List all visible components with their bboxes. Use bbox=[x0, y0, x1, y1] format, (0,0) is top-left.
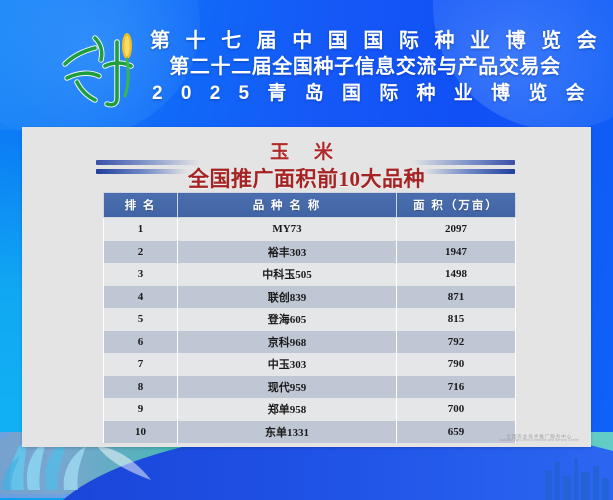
event-title-line-3: 2 0 2 5 青 岛 国 际 种 业 博 览 会 bbox=[145, 81, 585, 107]
cell-variety-name: 郑单958 bbox=[178, 398, 397, 421]
cell-rank: 9 bbox=[104, 398, 178, 421]
event-header: 第 十 七 届 中 国 国 际 种 业 博 览 会 第二十二届全国种子信息交流与… bbox=[0, 0, 613, 120]
cell-area: 716 bbox=[397, 376, 516, 399]
table-row: 6京科968792 bbox=[104, 331, 516, 354]
cell-rank: 5 bbox=[104, 308, 178, 331]
crop-title: 玉 米 bbox=[22, 137, 591, 164]
cell-area: 815 bbox=[397, 308, 516, 331]
cell-area: 659 bbox=[397, 421, 516, 444]
cell-rank: 7 bbox=[104, 353, 178, 376]
cell-variety-name: 现代959 bbox=[178, 376, 397, 399]
cell-rank: 8 bbox=[104, 376, 178, 399]
cell-variety-name: 登海605 bbox=[178, 308, 397, 331]
cell-variety-name: 京科968 bbox=[178, 331, 397, 354]
ranking-table-body: 1MY7320972裕丰30319473中科玉50514984联创8398715… bbox=[104, 218, 516, 444]
cell-variety-name: MY73 bbox=[178, 218, 397, 241]
cell-area: 790 bbox=[397, 353, 516, 376]
table-header-row: 排 名 品 种 名 称 面 积（万亩） bbox=[104, 193, 516, 218]
column-header-variety-name: 品 种 名 称 bbox=[178, 193, 397, 218]
chart-subtitle: 全国推广面积前10大品种 bbox=[22, 163, 591, 193]
table-row: 7中玉303790 bbox=[104, 353, 516, 376]
event-title-block: 第 十 七 届 中 国 国 际 种 业 博 览 会 第二十二届全国种子信息交流与… bbox=[145, 28, 585, 107]
slide-root: 第 十 七 届 中 国 国 际 种 业 博 览 会 第二十二届全国种子信息交流与… bbox=[0, 0, 613, 500]
cell-variety-name: 联创839 bbox=[178, 286, 397, 309]
cell-variety-name: 东单1331 bbox=[178, 421, 397, 444]
table-row: 8现代959716 bbox=[104, 376, 516, 399]
ranking-table: 排 名 品 种 名 称 面 积（万亩） 1MY7320972裕丰30319473… bbox=[103, 192, 516, 443]
cell-area: 792 bbox=[397, 331, 516, 354]
table-row: 3中科玉5051498 bbox=[104, 263, 516, 286]
cell-rank: 10 bbox=[104, 421, 178, 444]
cell-area: 1947 bbox=[397, 241, 516, 264]
cell-rank: 6 bbox=[104, 331, 178, 354]
column-header-rank: 排 名 bbox=[104, 193, 178, 218]
cell-rank: 3 bbox=[104, 263, 178, 286]
cell-area: 700 bbox=[397, 398, 516, 421]
content-panel: 玉 米 全国推广面积前10大品种 排 名 品 种 名 称 面 积（万亩） 1MY… bbox=[22, 127, 591, 447]
table-row: 9郑单958700 bbox=[104, 398, 516, 421]
cell-rank: 4 bbox=[104, 286, 178, 309]
watermark-english: National Agro-Tech Extension and Service… bbox=[500, 439, 579, 443]
table-row: 5登海605815 bbox=[104, 308, 516, 331]
cell-rank: 1 bbox=[104, 218, 178, 241]
table-row: 2裕丰3031947 bbox=[104, 241, 516, 264]
table-row: 4联创839871 bbox=[104, 286, 516, 309]
city-skyline-icon bbox=[541, 452, 611, 500]
cell-area: 2097 bbox=[397, 218, 516, 241]
ranking-table-wrapper: 排 名 品 种 名 称 面 积（万亩） 1MY7320972裕丰30319473… bbox=[103, 192, 515, 443]
column-header-area: 面 积（万亩） bbox=[397, 193, 516, 218]
table-row: 10东单1331659 bbox=[104, 421, 516, 444]
table-row: 1MY732097 bbox=[104, 218, 516, 241]
feather-icon bbox=[95, 442, 155, 482]
cell-variety-name: 中玉303 bbox=[178, 353, 397, 376]
seed-expo-logo-icon bbox=[55, 26, 147, 112]
cell-area: 871 bbox=[397, 286, 516, 309]
cell-variety-name: 中科玉505 bbox=[178, 263, 397, 286]
cell-area: 1498 bbox=[397, 263, 516, 286]
event-title-line-1: 第 十 七 届 中 国 国 际 种 业 博 览 会 bbox=[145, 28, 585, 54]
watermark: 全国农业技术推广服务中心 National Agro-Tech Extensio… bbox=[500, 434, 579, 443]
event-title-line-2: 第二十二届全国种子信息交流与产品交易会 bbox=[145, 54, 585, 81]
cell-rank: 2 bbox=[104, 241, 178, 264]
cell-variety-name: 裕丰303 bbox=[178, 241, 397, 264]
